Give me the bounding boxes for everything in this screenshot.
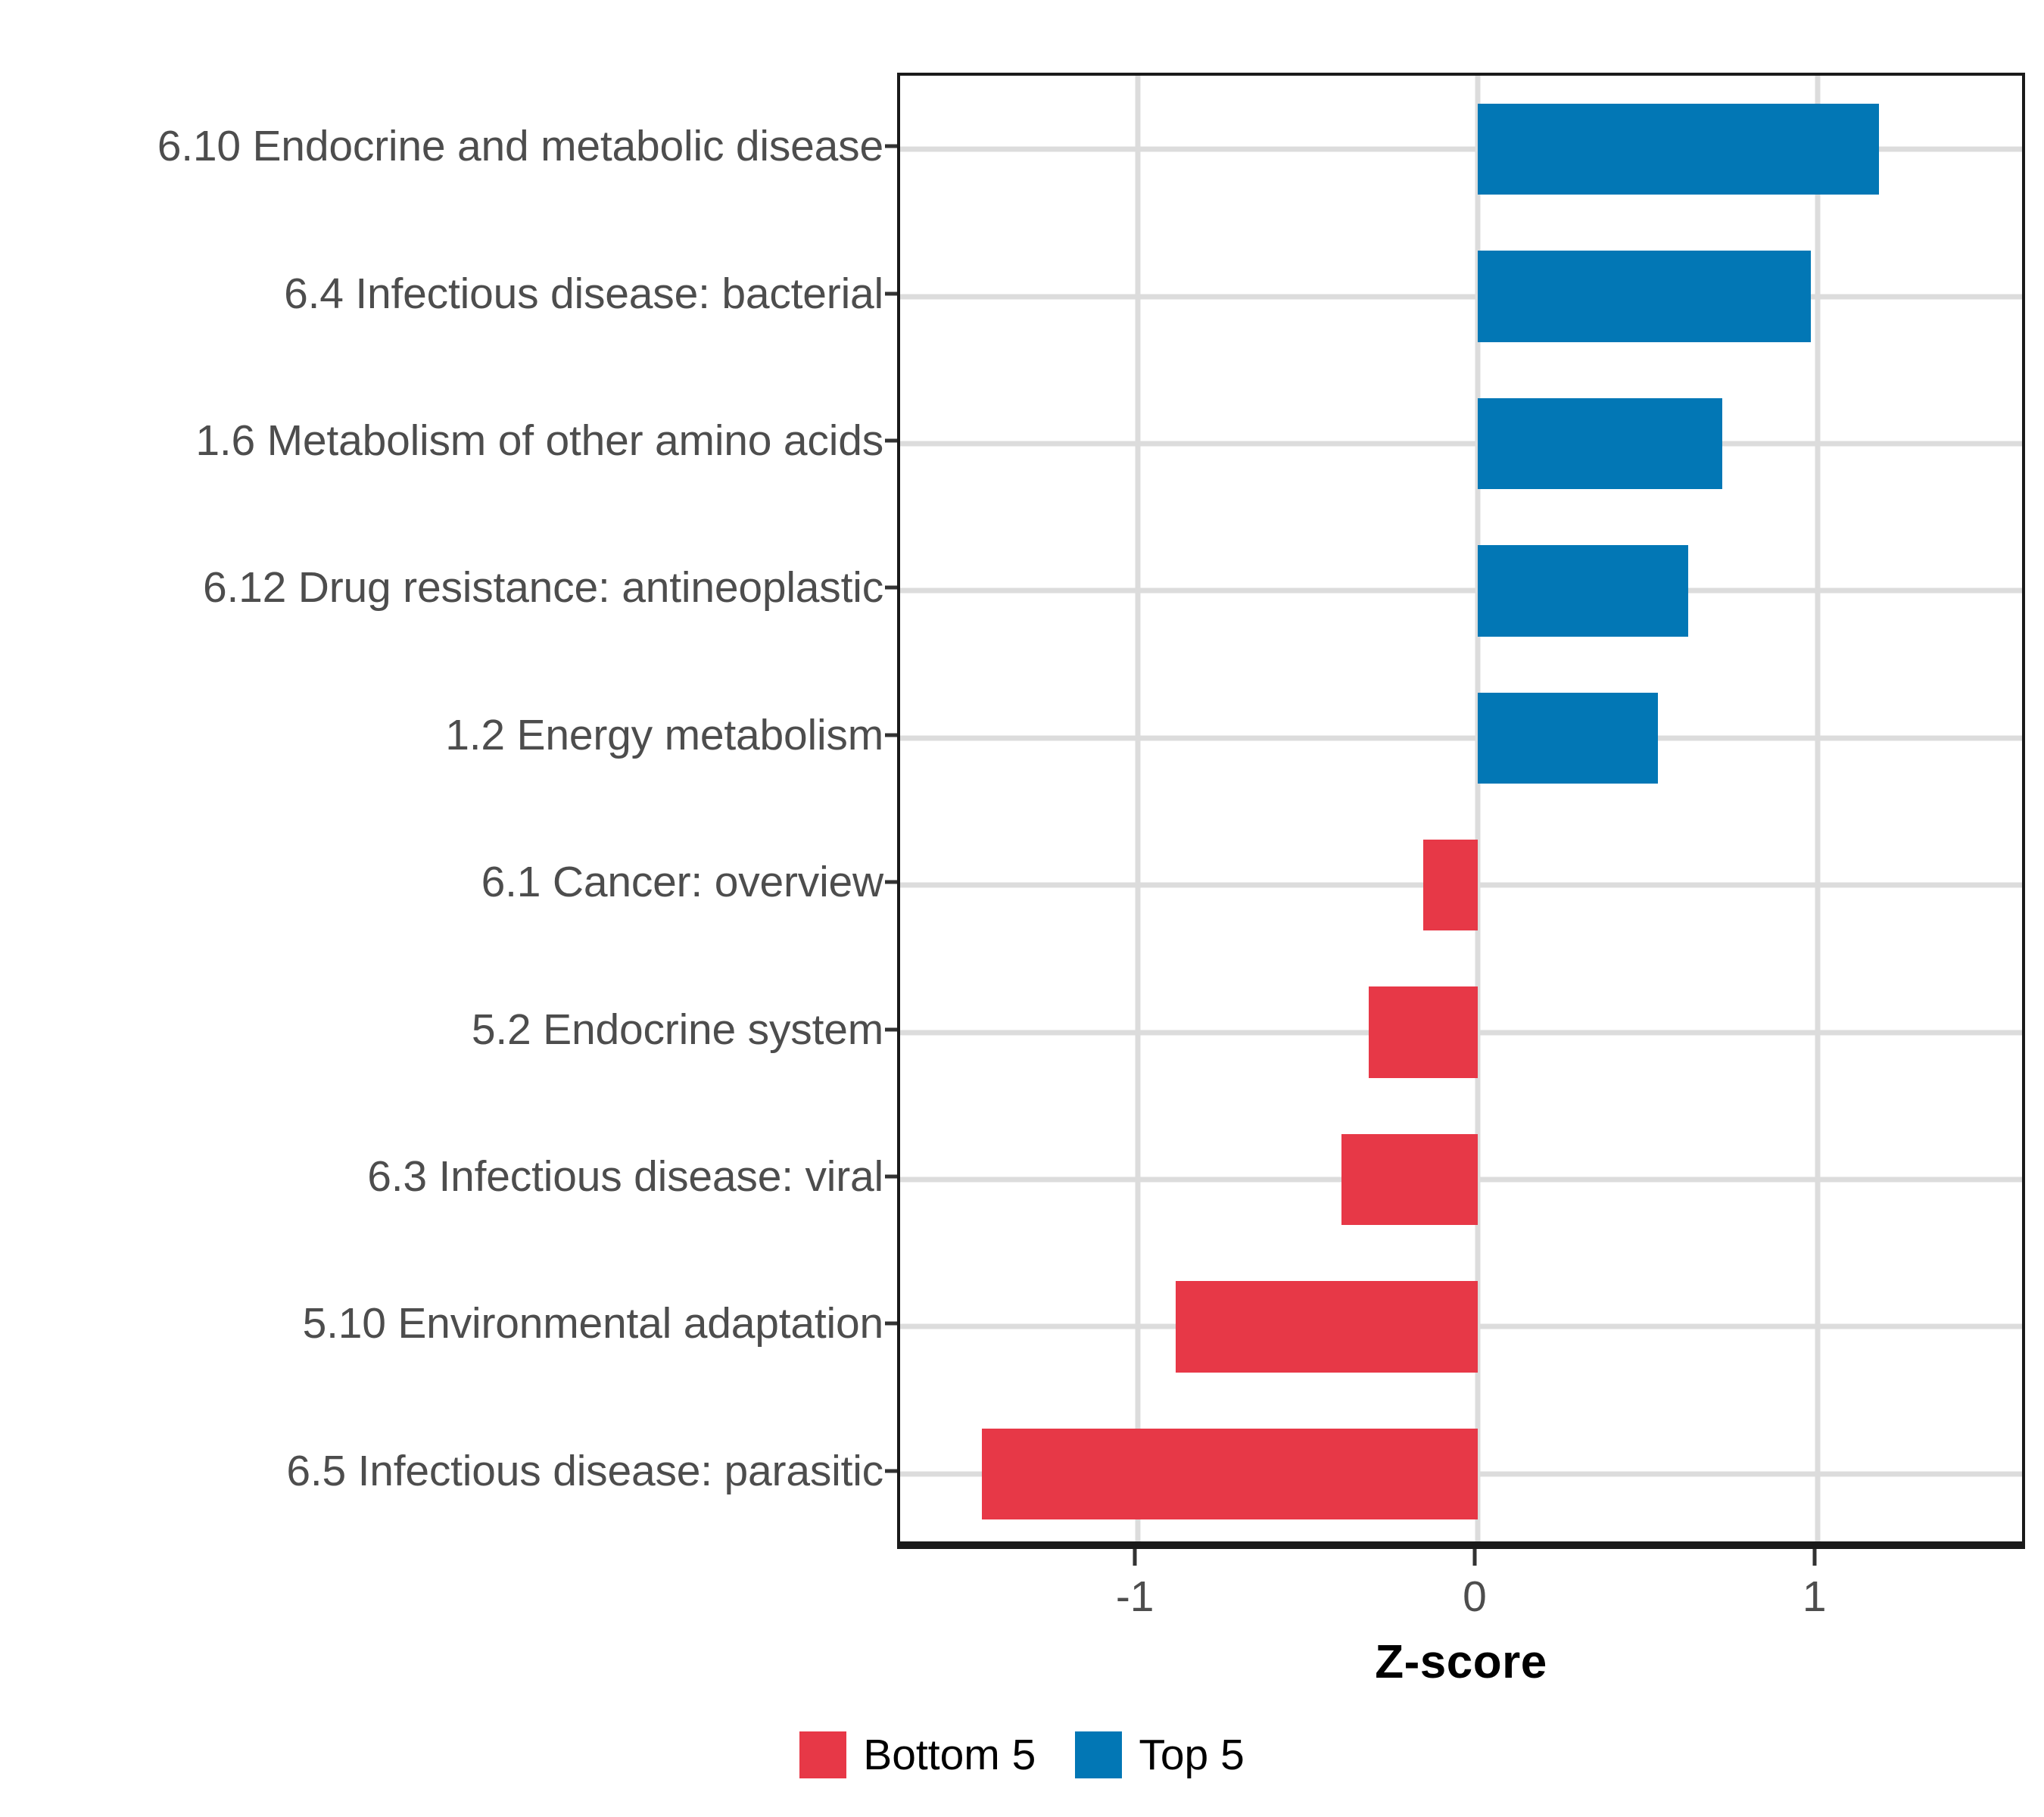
y-axis-label: 6.12 Drug resistance: antineoplastic — [203, 563, 883, 612]
bar-row — [900, 545, 2022, 637]
y-axis-label: 1.2 Energy metabolism — [445, 710, 883, 760]
x-axis-title: Z-score — [897, 1635, 2025, 1689]
legend-label: Top 5 — [1139, 1730, 1244, 1780]
y-axis-tick — [880, 955, 897, 1102]
y-axis-label-row: 6.3 Infectious disease: viral — [0, 1103, 897, 1250]
y-tick-mark — [885, 880, 897, 884]
y-axis-tick — [880, 809, 897, 955]
y-axis-tick — [880, 514, 897, 661]
bar-row — [900, 104, 2022, 195]
bar[interactable] — [1369, 986, 1478, 1078]
x-tick-label: 1 — [1803, 1572, 1827, 1622]
y-axis-label: 6.5 Infectious disease: parasitic — [286, 1446, 883, 1496]
bar[interactable] — [1478, 251, 1811, 342]
x-tick-label: 0 — [1463, 1572, 1487, 1622]
bar-series-layer — [900, 76, 2022, 1541]
y-axis-tick — [880, 1398, 897, 1544]
bar[interactable] — [1478, 398, 1722, 490]
bar[interactable] — [982, 1429, 1478, 1520]
y-tick-mark — [885, 439, 897, 443]
chart-root: 6.10 Endocrine and metabolic disease6.4 … — [0, 0, 2044, 1817]
bar-row — [900, 1281, 2022, 1373]
bar[interactable] — [1176, 1281, 1478, 1373]
y-axis-label-row: 6.10 Endocrine and metabolic disease — [0, 73, 897, 220]
legend-swatch — [799, 1731, 846, 1778]
x-tick-mark — [1133, 1549, 1137, 1566]
y-tick-mark — [885, 291, 897, 295]
legend-label: Bottom 5 — [863, 1730, 1036, 1780]
y-tick-mark — [885, 1027, 897, 1031]
y-axis-label-row: 6.5 Infectious disease: parasitic — [0, 1398, 897, 1544]
legend-swatch — [1075, 1731, 1122, 1778]
y-axis-label-row: 6.1 Cancer: overview — [0, 809, 897, 955]
x-axis-line — [897, 1544, 2025, 1549]
y-axis-ticks — [880, 73, 897, 1544]
bar[interactable] — [1341, 1134, 1478, 1226]
bar-row — [900, 1429, 2022, 1520]
bar-row — [900, 398, 2022, 490]
y-axis-label-row: 1.2 Energy metabolism — [0, 662, 897, 809]
y-tick-mark — [885, 145, 897, 148]
y-axis-label: 5.10 Environmental adaptation — [303, 1298, 883, 1348]
chart-legend: Bottom 5Top 5 — [0, 1730, 2044, 1780]
y-tick-mark — [885, 586, 897, 590]
y-axis-label: 6.4 Infectious disease: bacterial — [284, 269, 883, 319]
y-axis-label-row: 1.6 Metabolism of other amino acids — [0, 367, 897, 514]
bar-row — [900, 693, 2022, 784]
bar-row — [900, 986, 2022, 1078]
y-axis-tick — [880, 220, 897, 366]
y-axis-labels: 6.10 Endocrine and metabolic disease6.4 … — [0, 73, 897, 1544]
y-axis-label-row: 5.2 Endocrine system — [0, 955, 897, 1102]
x-tick-mark — [1472, 1549, 1476, 1566]
y-axis-tick — [880, 73, 897, 220]
y-axis-label-row: 6.4 Infectious disease: bacterial — [0, 220, 897, 366]
y-axis-label: 5.2 Endocrine system — [472, 1005, 883, 1055]
y-axis-label: 6.10 Endocrine and metabolic disease — [157, 121, 883, 171]
bar-row — [900, 251, 2022, 342]
y-axis-label-row: 6.12 Drug resistance: antineoplastic — [0, 514, 897, 661]
y-axis-tick — [880, 662, 897, 809]
bar[interactable] — [1423, 840, 1478, 931]
plot-panel — [897, 73, 2025, 1544]
y-axis-tick — [880, 1103, 897, 1250]
x-tick-mark — [1812, 1549, 1816, 1566]
x-tick-label: -1 — [1116, 1572, 1154, 1622]
y-axis-label: 6.1 Cancer: overview — [481, 857, 883, 907]
bar[interactable] — [1478, 545, 1688, 637]
y-axis-tick — [880, 367, 897, 514]
y-tick-mark — [885, 1322, 897, 1326]
bar-row — [900, 840, 2022, 931]
legend-item[interactable]: Bottom 5 — [799, 1730, 1036, 1780]
y-axis-tick — [880, 1250, 897, 1397]
y-tick-mark — [885, 733, 897, 737]
bar[interactable] — [1478, 693, 1658, 784]
y-tick-mark — [885, 1175, 897, 1179]
y-axis-label: 1.6 Metabolism of other amino acids — [195, 416, 883, 466]
bar-row — [900, 1134, 2022, 1226]
bar[interactable] — [1478, 104, 1879, 195]
legend-item[interactable]: Top 5 — [1075, 1730, 1244, 1780]
y-axis-label: 6.3 Infectious disease: viral — [367, 1152, 883, 1201]
y-axis-label-row: 5.10 Environmental adaptation — [0, 1250, 897, 1397]
y-tick-mark — [885, 1469, 897, 1473]
